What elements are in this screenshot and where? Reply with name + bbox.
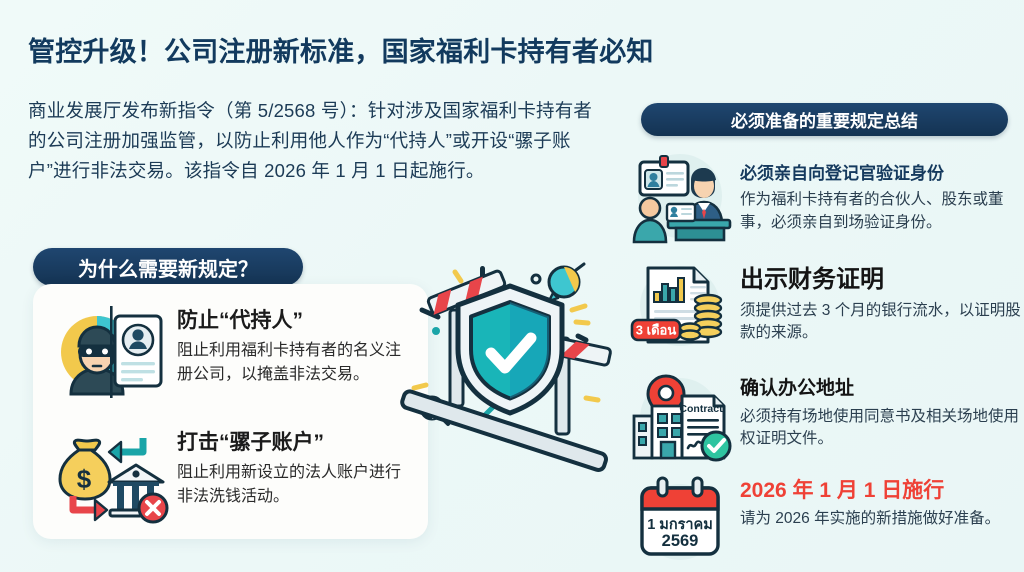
requirement-item-4-heading: 2026 年 1 月 1 日施行 — [740, 478, 1024, 503]
requirement-item-3-body: 必须持有场地使用同意书及相关场地使用权证明文件。 — [740, 406, 1024, 451]
thief-id-card-icon — [49, 302, 169, 402]
requirement-item-1: 必须亲自向登记官验证身份 作为福利卡持有者的合伙人、股东或董事，必须亲自到场验证… — [628, 150, 1024, 242]
requirement-item-4-text: 2026 年 1 月 1 日施行 请为 2026 年实施的新措施做好准备。 — [740, 474, 1024, 531]
reason-item-2: $ — [49, 424, 413, 524]
months-badge-label: 3 เดือน — [636, 323, 677, 338]
reason-item-1-body: 阻止利用福利卡持有者的名义注册公司，以掩盖非法交易。 — [177, 339, 413, 386]
reason-item-1-heading: 防止“代持人” — [177, 308, 413, 333]
svg-text:$: $ — [77, 464, 92, 494]
requirement-item-4: 1 มกราคม 2569 2026 年 1 月 1 日施行 请为 2026 年… — [628, 474, 1024, 566]
reason-item-2-body: 阻止利用新设立的法人账户进行非法洗钱活动。 — [177, 461, 413, 508]
requirement-item-1-heading: 必须亲自向登记官验证身份 — [740, 164, 1024, 184]
calendar-year-label: 2569 — [662, 532, 699, 550]
registrar-identity-verification-icon — [628, 150, 732, 242]
infographic-page: 管控升级！公司注册新标准，国家福利卡持有者必知 商业发展厅发布新指令（第 5/2… — [0, 0, 1024, 572]
office-address-contract-icon: Contract — [628, 372, 732, 464]
reason-item-2-heading: 打击“骡子账户” — [177, 430, 413, 455]
calendar-date-label: 1 มกราคม — [647, 517, 713, 533]
requirement-item-4-body: 请为 2026 年实施的新措施做好准备。 — [740, 508, 1024, 530]
reasons-card: 防止“代持人” 阻止利用福利卡持有者的名义注册公司，以掩盖非法交易。 $ — [33, 284, 428, 539]
requirement-item-2: 3 เดือน 出示财务证明 须提供过去 3 个月的银行流水，以证明股款的来源。 — [628, 262, 1024, 354]
requirement-item-2-body: 须提供过去 3 个月的银行流水，以证明股款的来源。 — [740, 300, 1024, 345]
money-bag-bank-blocked-icon: $ — [49, 424, 169, 524]
contract-label: Contract — [679, 403, 723, 415]
financial-statement-coins-icon: 3 เดือน — [628, 262, 732, 354]
requirement-item-3-text: 确认办公地址 必须持有场地使用同意书及相关场地使用权证明文件。 — [740, 372, 1024, 451]
reason-item-2-text: 打击“骡子账户” 阻止利用新设立的法人账户进行非法洗钱活动。 — [177, 424, 413, 508]
right-section-banner: 必须准备的重要规定总结 — [641, 103, 1008, 136]
requirement-item-1-text: 必须亲自向登记官验证身份 作为福利卡持有者的合伙人、股东或董事，必须亲自到场验证… — [740, 150, 1024, 234]
reason-item-1: 防止“代持人” 阻止利用福利卡持有者的名义注册公司，以掩盖非法交易。 — [49, 302, 413, 402]
calendar-effective-date-icon: 1 มกราคม 2569 — [628, 474, 732, 566]
requirement-item-2-text: 出示财务证明 须提供过去 3 个月的银行流水，以证明股款的来源。 — [740, 262, 1024, 345]
page-title: 管控升级！公司注册新标准，国家福利卡持有者必知 — [28, 36, 728, 70]
requirement-item-2-heading: 出示财务证明 — [740, 266, 1024, 295]
intro-paragraph: 商业发展厅发布新指令（第 5/2568 号）：针对涉及国家福利卡持有者的公司注册… — [28, 96, 608, 186]
requirement-item-3: Contract 确认办公地址 必须持有场地使用同意书及相关场地使用权证明文件。 — [628, 372, 1024, 464]
requirement-item-1-body: 作为福利卡持有者的合伙人、股东或董事，必须亲自到场验证身份。 — [740, 189, 1024, 234]
left-section-banner: 为什么需要新规定？ — [33, 248, 303, 286]
requirement-item-3-heading: 确认办公地址 — [740, 378, 1024, 401]
shield-check-barrier-icon — [398, 248, 622, 472]
reason-item-1-text: 防止“代持人” 阻止利用福利卡持有者的名义注册公司，以掩盖非法交易。 — [177, 302, 413, 386]
